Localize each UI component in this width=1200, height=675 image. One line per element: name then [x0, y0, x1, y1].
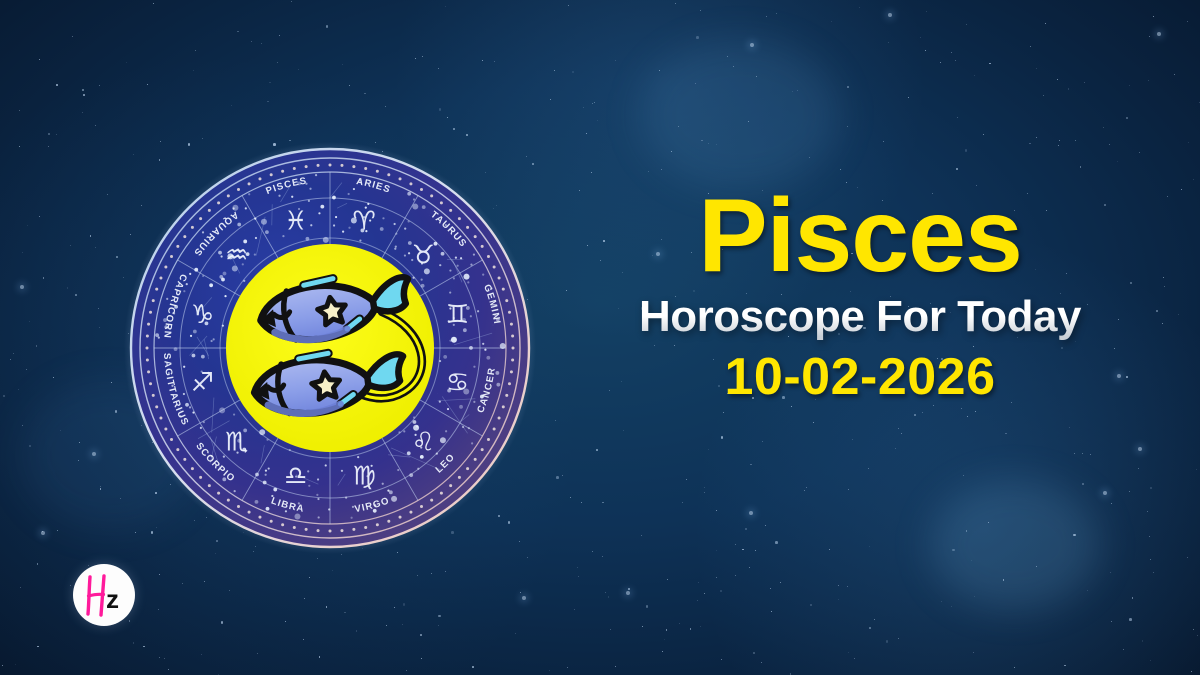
brand-logo[interactable]: z: [73, 564, 135, 626]
zodiac-glyph-cancer: ♋: [446, 368, 469, 398]
page-subtitle: Horoscope For Today: [560, 294, 1160, 340]
headline-block: Pisces Horoscope For Today 10-02-2026: [560, 186, 1160, 405]
zodiac-glyph-leo: ♌: [412, 427, 435, 457]
nebula-glow-right: [930, 480, 1100, 610]
logo-letter-z: z: [106, 584, 119, 614]
nebula-glow-center: [640, 40, 840, 190]
zodiac-glyph-aquarius: ♒: [225, 241, 248, 271]
zodiac-glyph-scorpio: ♏: [225, 427, 248, 457]
zodiac-glyph-sagittarius: ♐: [191, 368, 214, 398]
zodiac-glyph-taurus: ♉: [412, 241, 435, 271]
zodiac-glyph-libra: ♎: [284, 462, 307, 492]
horoscope-banner: PISCES♓ARIES♈TAURUS♉GEMINI♊CANCER♋LEO♌VI…: [0, 0, 1200, 675]
zodiac-glyph-pisces: ♓: [284, 207, 307, 237]
horoscope-date: 10-02-2026: [560, 350, 1160, 405]
page-title: Pisces: [560, 186, 1160, 288]
logo-letter-h: [88, 576, 104, 615]
zodiac-glyph-gemini: ♊: [446, 300, 469, 330]
zodiac-glyph-virgo: ♍: [353, 462, 376, 492]
zodiac-wheel: PISCES♓ARIES♈TAURUS♉GEMINI♊CANCER♋LEO♌VI…: [124, 142, 536, 554]
zodiac-glyph-aries: ♈: [353, 207, 376, 237]
zodiac-glyph-capricorn: ♑: [191, 300, 214, 330]
